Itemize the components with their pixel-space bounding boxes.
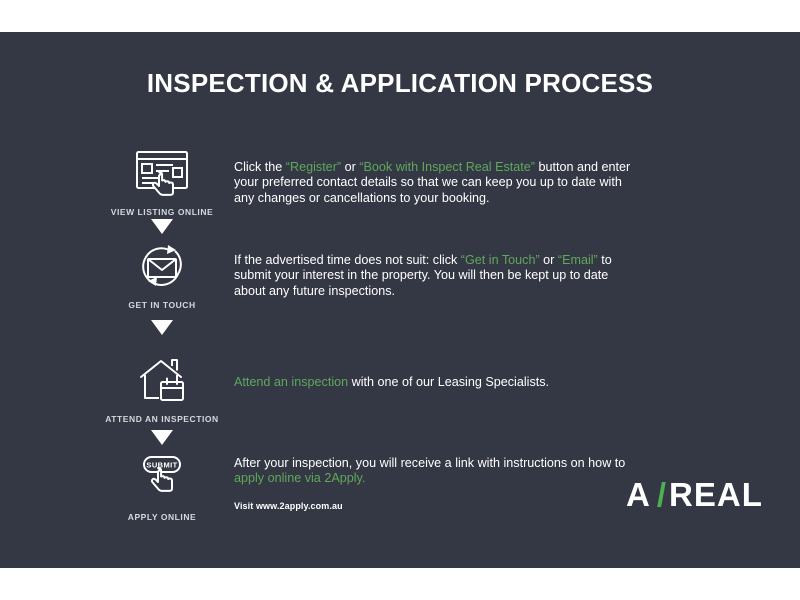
visit-url-note: Visit www.2apply.com.au (234, 499, 634, 514)
svg-text:SUBMIT: SUBMIT (146, 461, 177, 470)
step-body-part: After your inspection, you will receive … (234, 456, 625, 470)
step-body: After your inspection, you will receive … (234, 456, 634, 514)
step-body-part: with one of our Leasing Specialists. (348, 375, 549, 389)
step-body-part: Click the (234, 160, 286, 174)
step-label: VIEW LISTING ONLINE (92, 207, 232, 217)
step-body-highlight: Attend an inspection (234, 375, 348, 389)
step-body: Attend an inspection with one of our Lea… (234, 375, 634, 390)
step-body-highlight: “Register” (286, 160, 341, 174)
step-body-highlight: apply online via 2Apply. (234, 471, 365, 485)
page-title: INSPECTION & APPLICATION PROCESS (0, 68, 800, 99)
step-icon-column: SUBMIT APPLY ONLINE (92, 450, 232, 522)
down-arrow-icon (92, 320, 232, 340)
step-body-part: or (341, 160, 359, 174)
logo-letter-a: A (626, 476, 651, 514)
step-body-part: If the advertised time does not suit: cl… (234, 253, 461, 267)
step-icon-column: ATTEND AN INSPECTION (92, 352, 232, 424)
step-label: ATTEND AN INSPECTION (92, 414, 232, 424)
step-icon-column: VIEW LISTING ONLINE (92, 145, 232, 217)
step-body-highlight: “Get in Touch” (461, 253, 540, 267)
step-icon-column: GET IN TOUCH (92, 238, 232, 310)
step-body-part: or (540, 253, 558, 267)
logo-slash: / (657, 476, 667, 514)
step-body-highlight: “Email” (558, 253, 598, 267)
listing-window-cursor-icon (92, 145, 232, 201)
submit-button-cursor-icon: SUBMIT (92, 450, 232, 506)
house-calendar-icon (92, 352, 232, 408)
logo-word-real: REAL (669, 476, 763, 514)
poster: INSPECTION & APPLICATION PROCESS VIEW LI… (0, 0, 800, 600)
down-arrow-icon (92, 430, 232, 450)
down-arrow-icon (92, 219, 232, 239)
step-body-highlight: “Book with Inspect Real Estate” (359, 160, 535, 174)
step-body: If the advertised time does not suit: cl… (234, 253, 634, 299)
brand-logo: A/REAL (626, 474, 776, 516)
step-label: APPLY ONLINE (92, 512, 232, 522)
envelope-refresh-icon (92, 238, 232, 294)
step-body: Click the “Register” or “Book with Inspe… (234, 160, 634, 206)
step-label: GET IN TOUCH (92, 300, 232, 310)
